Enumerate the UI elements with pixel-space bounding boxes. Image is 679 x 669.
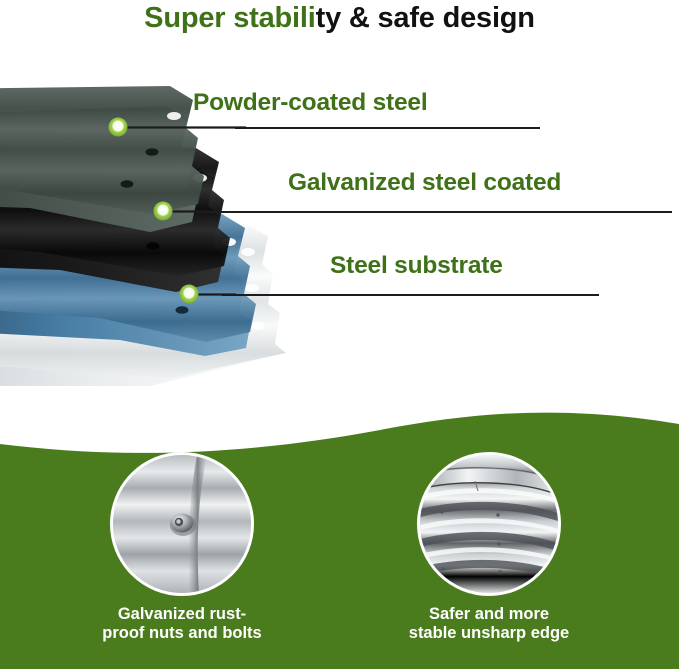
marker-galvanized-steel-coated bbox=[154, 202, 173, 221]
callout-label-powder-coated-steel: Powder-coated steel bbox=[193, 89, 427, 117]
callout-rule-powder-coated-steel bbox=[235, 127, 540, 129]
feature-galvanized-nuts-bolts: Galvanized rust- proof nuts and bolts bbox=[42, 452, 322, 643]
callout-label-galvanized-steel-coated: Galvanized steel coated bbox=[288, 169, 561, 197]
feature-unsharp-edge: Safer and more stable unsharp edge bbox=[349, 452, 629, 643]
callout-rule-galvanized-steel-coated bbox=[196, 211, 672, 213]
galvanized-bolt-closeup-photo bbox=[110, 452, 254, 596]
marker-steel-substrate bbox=[180, 285, 199, 304]
page-title-black-part: ty & safe design bbox=[316, 2, 535, 34]
marker-powder-coated-steel bbox=[109, 118, 128, 137]
feature-caption-unsharp-edge: Safer and more stable unsharp edge bbox=[349, 605, 629, 643]
page-title: Super stability & safe design bbox=[0, 2, 679, 35]
callout-label-steel-substrate: Steel substrate bbox=[330, 252, 503, 280]
page-title-green-part: Super stabili bbox=[144, 2, 315, 34]
corrugated-bed-edge-closeup-photo bbox=[417, 452, 561, 596]
product-feature-infographic: Super stability & safe design bbox=[0, 0, 679, 669]
feature-caption-galvanized-nuts-bolts: Galvanized rust- proof nuts and bolts bbox=[42, 605, 322, 643]
callout-rule-steel-substrate bbox=[222, 294, 599, 296]
